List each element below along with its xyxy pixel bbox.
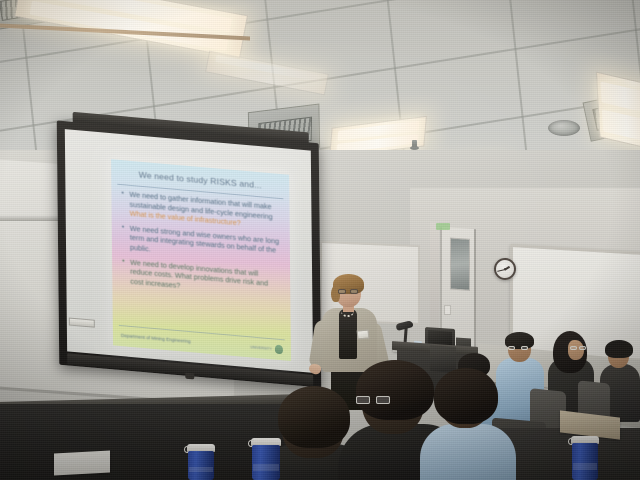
blue-water-bottle bbox=[252, 438, 280, 480]
fire-sprinkler-2 bbox=[412, 140, 417, 149]
bottle-body bbox=[252, 445, 280, 480]
student-face bbox=[568, 340, 584, 360]
door-window bbox=[450, 237, 470, 290]
student-hair bbox=[434, 368, 498, 424]
ceiling-speaker-1 bbox=[548, 120, 580, 136]
handout-paper bbox=[54, 451, 110, 476]
presenter-name-badge bbox=[357, 329, 370, 339]
bottle-body bbox=[188, 451, 214, 480]
slide-footer-text: Department of Mining Engineering bbox=[121, 333, 191, 344]
projection-screen-border: We need to study RISKS and... We need to… bbox=[57, 120, 322, 387]
bottle-label bbox=[189, 467, 213, 472]
slide-logo-text: UNIVERSITY bbox=[250, 345, 272, 351]
light-switch[interactable] bbox=[444, 305, 451, 315]
student-body bbox=[420, 424, 516, 480]
bottle-body bbox=[572, 443, 598, 480]
bottle-label bbox=[573, 463, 597, 470]
projected-slide: We need to study RISKS and... We need to… bbox=[111, 159, 291, 361]
projection-screen-fabric: We need to study RISKS and... We need to… bbox=[65, 129, 313, 373]
blue-water-bottle bbox=[572, 436, 598, 480]
student-hair bbox=[605, 340, 633, 358]
student-front-right bbox=[420, 374, 516, 480]
presenter-glasses-icon bbox=[338, 289, 358, 294]
blue-water-bottle bbox=[188, 444, 214, 480]
slide-bullet-list: We need to gather information that will … bbox=[121, 189, 282, 304]
slide-logo-mark-icon bbox=[275, 345, 283, 355]
student-glasses-icon bbox=[508, 346, 528, 350]
student-glasses-icon bbox=[570, 346, 586, 350]
wall-clock bbox=[494, 258, 516, 280]
bottle-label bbox=[253, 464, 279, 470]
slide-title: We need to study RISKS and... bbox=[111, 167, 289, 193]
projection-screen: We need to study RISKS and... We need to… bbox=[57, 116, 322, 391]
student-glasses-icon bbox=[356, 396, 390, 404]
classroom-photo: We need to study RISKS and... We need to… bbox=[0, 0, 640, 480]
exit-sign-icon bbox=[436, 223, 450, 230]
slide-logo: UNIVERSITY bbox=[250, 342, 283, 354]
